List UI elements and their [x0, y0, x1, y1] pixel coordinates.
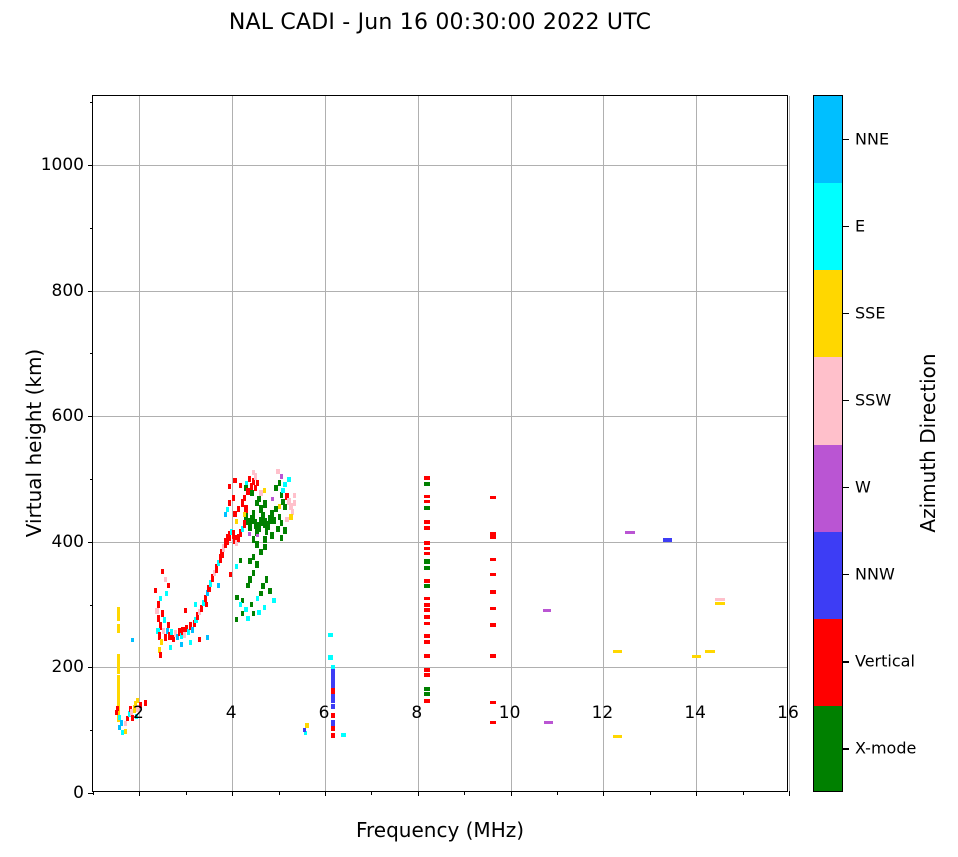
colorbar-label-vertical: Vertical — [855, 652, 915, 671]
echo-point — [256, 534, 259, 538]
echo-point — [126, 716, 129, 721]
gridline-vertical — [696, 96, 697, 791]
echo-point — [715, 598, 725, 602]
echo-point — [424, 559, 430, 564]
echo-point — [270, 532, 274, 540]
echo-point — [241, 611, 244, 616]
echo-point — [424, 526, 430, 530]
echo-point — [424, 566, 430, 570]
gridline-vertical — [603, 96, 604, 791]
echo-point — [248, 558, 252, 564]
echo-point — [255, 541, 259, 549]
echo-point — [189, 640, 192, 645]
colorbar-tick — [843, 226, 849, 227]
colorbar-label-e: E — [855, 216, 865, 235]
colorbar-tick — [843, 574, 849, 575]
echo-point — [239, 602, 242, 607]
figure-title: NAL CADI - Jun 16 00:30:00 2022 UTC — [0, 10, 880, 35]
echo-point — [161, 610, 164, 616]
echo-point — [331, 713, 335, 718]
gridline-vertical — [789, 96, 790, 791]
y-tick-label: 600 — [52, 406, 84, 426]
colorbar[interactable] — [813, 95, 843, 792]
y-axis-label: Virtual height (km) — [22, 349, 46, 538]
echo-point — [283, 527, 287, 533]
colorbar-tick — [843, 139, 849, 140]
echo-point — [490, 654, 496, 658]
echo-point — [276, 526, 280, 532]
colorbar-band-ssw[interactable] — [814, 357, 842, 445]
echo-point — [136, 698, 139, 703]
echo-point — [164, 634, 167, 642]
echo-point — [424, 622, 430, 625]
x-tick-minor — [743, 791, 744, 795]
y-tick-label: 0 — [73, 783, 84, 803]
y-tick-label: 800 — [52, 281, 84, 301]
y-tick — [88, 542, 93, 543]
echo-point — [239, 483, 242, 488]
echo-point — [490, 701, 496, 704]
colorbar-band-w[interactable] — [814, 445, 842, 533]
echo-point — [248, 476, 251, 482]
x-axis-label: Frequency (MHz) — [92, 818, 788, 842]
y-tick-label: 400 — [52, 532, 84, 552]
y-tick-minor — [90, 353, 94, 354]
x-tick — [789, 791, 790, 796]
echo-point — [246, 583, 249, 588]
echo-point — [424, 668, 430, 672]
echo-point — [191, 627, 194, 633]
echo-point — [237, 506, 240, 512]
colorbar-tick — [843, 487, 849, 488]
gridline-horizontal — [93, 667, 787, 668]
echo-point — [293, 493, 297, 498]
colorbar-tick — [843, 661, 849, 662]
echo-point — [232, 495, 235, 501]
echo-point — [663, 538, 672, 541]
echo-point — [490, 573, 496, 577]
echo-point — [235, 564, 238, 569]
echo-point — [198, 637, 201, 642]
x-tick-label: 10 — [499, 703, 521, 723]
x-tick — [511, 791, 512, 796]
echo-point — [424, 615, 430, 619]
echo-point — [490, 623, 496, 627]
echo-point — [233, 511, 236, 517]
y-tick-minor — [90, 228, 94, 229]
echo-point — [252, 554, 256, 560]
echo-point — [715, 602, 725, 605]
echo-point — [124, 721, 127, 726]
echo-point — [424, 500, 430, 503]
colorbar-tick — [843, 313, 849, 314]
echo-point — [280, 535, 284, 541]
echo-point — [235, 519, 238, 524]
echo-point — [250, 602, 253, 607]
echo-point — [228, 484, 231, 489]
x-tick-minor — [464, 791, 465, 795]
echo-point — [180, 642, 183, 647]
echo-point — [259, 591, 262, 596]
colorbar-label-w: W — [855, 478, 871, 497]
echo-point — [261, 583, 265, 589]
echo-point — [194, 602, 197, 607]
echo-point — [424, 584, 430, 588]
echo-point — [424, 699, 430, 703]
x-tick-label: 8 — [411, 703, 422, 723]
x-tick-label: 14 — [684, 703, 706, 723]
echo-point — [490, 607, 496, 610]
echo-point — [276, 469, 280, 474]
echo-point — [159, 652, 162, 658]
y-tick-label: 1000 — [41, 155, 84, 175]
echo-point — [248, 576, 252, 582]
gridline-vertical — [325, 96, 326, 791]
echo-point — [283, 482, 287, 487]
x-tick-label: 2 — [133, 703, 144, 723]
echo-point — [490, 590, 496, 594]
gridline-vertical — [139, 96, 140, 791]
echo-point — [248, 523, 252, 531]
echo-point — [331, 733, 335, 738]
y-tick — [88, 291, 93, 292]
echo-point — [544, 721, 552, 724]
echo-point — [259, 490, 262, 496]
echo-point — [205, 602, 208, 607]
echo-point — [257, 496, 261, 502]
x-tick — [603, 791, 604, 796]
echo-point — [424, 547, 430, 550]
echo-point — [692, 655, 701, 658]
echo-point — [263, 605, 266, 610]
echo-point — [124, 729, 127, 734]
colorbar-label-x-mode: X-mode — [855, 739, 916, 758]
echo-point — [543, 609, 551, 612]
echo-point — [331, 704, 335, 709]
echo-point — [424, 482, 430, 486]
echo-point — [255, 561, 259, 567]
echo-point — [424, 597, 430, 600]
echo-point — [169, 645, 172, 650]
echo-point — [625, 531, 635, 534]
echo-point — [246, 616, 249, 621]
x-tick-minor — [371, 791, 372, 795]
x-tick — [232, 791, 233, 796]
y-tick-minor — [90, 479, 94, 480]
echo-point — [490, 532, 496, 538]
echo-point — [167, 622, 170, 628]
echo-point — [252, 510, 256, 519]
echo-point — [259, 549, 263, 555]
echo-point — [117, 624, 120, 633]
echo-point — [424, 603, 430, 607]
echo-point — [613, 650, 622, 653]
echo-point — [244, 607, 247, 612]
echo-point — [490, 558, 496, 562]
echo-point — [157, 601, 160, 607]
echo-point — [165, 591, 168, 596]
gridline-vertical — [232, 96, 233, 791]
colorbar-tick — [843, 748, 849, 749]
colorbar-label-nnw: NNW — [855, 565, 895, 584]
echo-point — [256, 480, 259, 486]
echo-point — [117, 654, 120, 674]
colorbar-label-nne: NNE — [855, 129, 889, 148]
echo-point — [256, 596, 259, 601]
echo-point — [424, 520, 430, 524]
colorbar-band-sse[interactable] — [814, 270, 842, 358]
x-tick-minor — [279, 791, 280, 795]
echo-point — [331, 720, 335, 726]
echo-point — [252, 570, 256, 576]
echo-point — [228, 500, 231, 506]
echo-point — [613, 735, 622, 738]
echo-point — [287, 477, 291, 482]
echo-point — [224, 512, 227, 517]
plot-area: 02004006008001000 — [92, 95, 788, 792]
x-tick-minor — [650, 791, 651, 795]
echo-point — [206, 635, 209, 640]
echo-point — [263, 544, 267, 550]
colorbar-band-nnw[interactable] — [814, 532, 842, 620]
echo-point — [257, 610, 260, 615]
echo-point — [263, 500, 267, 508]
x-tick — [696, 791, 697, 796]
echo-point — [490, 721, 496, 724]
echo-point — [217, 583, 220, 588]
echo-point — [252, 470, 255, 475]
colorbar-label-sse: SSE — [855, 303, 885, 322]
y-tick-minor — [90, 730, 94, 731]
echo-point — [278, 504, 282, 509]
echo-point — [263, 536, 267, 544]
ionogram-figure: NAL CADI - Jun 16 00:30:00 2022 UTC 0200… — [0, 0, 958, 857]
echo-point — [424, 552, 430, 555]
echo-point — [305, 723, 309, 728]
gridline-horizontal — [93, 165, 787, 166]
echo-point — [271, 497, 274, 501]
gridline-horizontal — [93, 416, 787, 417]
x-tick-label: 12 — [592, 703, 614, 723]
x-tick-label: 6 — [319, 703, 330, 723]
echo-point — [328, 655, 332, 659]
y-tick — [88, 416, 93, 417]
y-tick — [88, 165, 93, 166]
echo-point — [424, 640, 430, 644]
echo-point — [167, 583, 170, 588]
echo-point — [268, 588, 272, 594]
echo-point — [289, 514, 293, 520]
echo-point — [235, 617, 238, 622]
echo-point — [233, 478, 236, 483]
echo-point — [424, 608, 430, 612]
echo-point — [115, 710, 118, 715]
echo-point — [280, 492, 284, 498]
echo-point — [184, 608, 187, 613]
echo-point — [424, 541, 430, 545]
colorbar-band-vertical[interactable] — [814, 619, 842, 707]
echo-point — [164, 577, 167, 582]
colorbar-band-e[interactable] — [814, 183, 842, 271]
echo-point — [243, 495, 246, 501]
echo-point — [424, 692, 430, 696]
echo-point — [280, 520, 284, 526]
echo-point — [229, 572, 232, 577]
echo-point — [163, 617, 166, 623]
echo-point — [117, 607, 120, 621]
echo-point — [245, 481, 248, 485]
echo-point — [293, 500, 297, 506]
echo-point — [252, 611, 255, 616]
echo-point — [424, 634, 430, 638]
colorbar-label-ssw: SSW — [855, 390, 891, 409]
echo-point — [272, 598, 275, 603]
colorbar-tick — [843, 400, 849, 401]
echo-point — [263, 488, 266, 493]
echo-point — [154, 588, 157, 593]
echo-point — [424, 687, 430, 691]
echo-point — [705, 650, 715, 653]
echo-point — [161, 569, 164, 574]
gridline-horizontal — [93, 291, 787, 292]
x-tick-minor — [557, 791, 558, 795]
colorbar-band-x-mode[interactable] — [814, 706, 842, 792]
echo-point — [331, 694, 335, 703]
y-tick-minor — [90, 605, 94, 606]
gridline-horizontal — [93, 542, 787, 543]
y-tick-label: 200 — [52, 657, 84, 677]
echo-point — [272, 517, 276, 525]
echo-point — [424, 476, 430, 480]
echo-point — [155, 608, 158, 614]
echo-point — [341, 733, 345, 737]
gridline-vertical — [418, 96, 419, 791]
echo-point — [424, 654, 430, 658]
x-tick — [139, 791, 140, 796]
echo-point — [424, 673, 430, 676]
y-tick — [88, 667, 93, 668]
echo-point — [490, 496, 496, 499]
echo-point — [278, 480, 282, 486]
echo-point — [281, 488, 285, 493]
echo-point — [280, 474, 284, 479]
x-tick — [325, 791, 326, 796]
echo-point — [285, 517, 289, 522]
colorbar-band-nne[interactable] — [814, 96, 842, 184]
x-tick — [418, 791, 419, 796]
echo-point — [239, 558, 242, 563]
echo-point — [303, 728, 307, 732]
echo-point — [328, 633, 332, 637]
y-tick — [88, 793, 93, 794]
echo-point — [265, 576, 269, 582]
x-tick-minor — [93, 791, 94, 795]
gridline-vertical — [511, 96, 512, 791]
echo-point — [243, 512, 246, 517]
x-tick-label: 4 — [226, 703, 237, 723]
x-tick-label: 16 — [777, 703, 799, 723]
echo-point — [248, 532, 251, 536]
echo-point — [424, 495, 430, 499]
echo-point — [159, 596, 162, 601]
echo-point — [424, 506, 430, 510]
echo-point — [235, 595, 239, 600]
echo-point — [424, 579, 430, 583]
echo-point — [144, 700, 147, 706]
y-tick-minor — [90, 102, 94, 103]
echo-point — [331, 726, 335, 731]
echo-point — [131, 638, 134, 642]
x-tick-minor — [186, 791, 187, 795]
colorbar-title: Azimuth Direction — [916, 353, 940, 532]
